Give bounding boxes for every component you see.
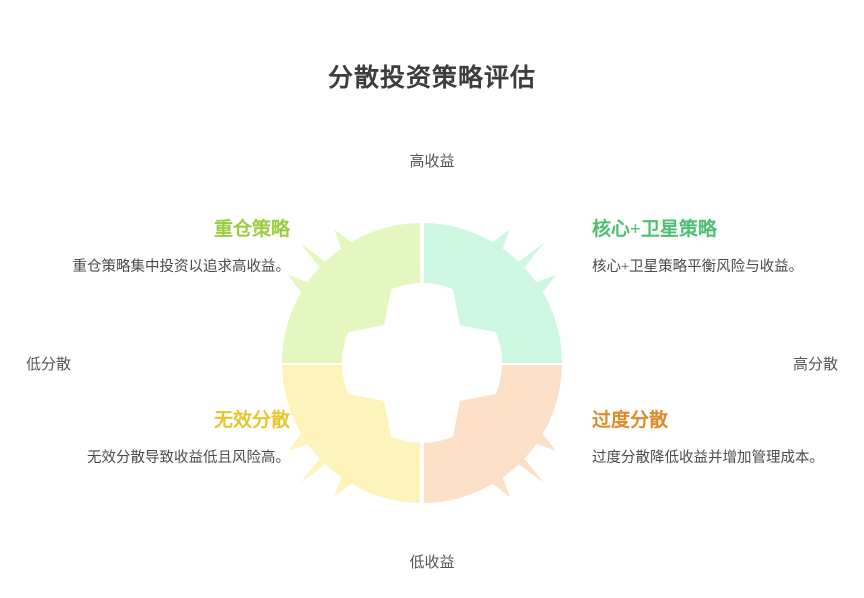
quadrant-bottom-left: 无效分散 无效分散导致收益低且风险高。 bbox=[18, 410, 290, 470]
segment-bottom-right[interactable] bbox=[424, 365, 562, 503]
segment-top-left[interactable] bbox=[282, 223, 420, 363]
quadrant-top-left: 重仓策略 重仓策略集中投资以追求高收益。 bbox=[18, 219, 290, 279]
quadrant-bottom-right: 过度分散 过度分散降低收益并增加管理成本。 bbox=[592, 410, 864, 470]
axis-label-top: 高收益 bbox=[0, 150, 864, 171]
quadrant-description-bottom-right: 过度分散降低收益并增加管理成本。 bbox=[592, 447, 864, 470]
quadrant-description-top-right: 核心+卫星策略平衡风险与收益。 bbox=[592, 256, 864, 279]
axis-label-left: 低分散 bbox=[26, 353, 71, 374]
quadrant-top-right: 核心+卫星策略 核心+卫星策略平衡风险与收益。 bbox=[592, 219, 864, 279]
axis-label-right: 高分散 bbox=[793, 353, 838, 374]
quadrant-heading-bottom-left: 无效分散 bbox=[18, 410, 290, 433]
segment-top-right[interactable] bbox=[424, 223, 562, 363]
donut-diagram bbox=[282, 223, 562, 503]
donut-svg bbox=[282, 223, 562, 503]
axis-label-bottom: 低收益 bbox=[0, 551, 864, 572]
quadrant-heading-top-right: 核心+卫星策略 bbox=[592, 219, 864, 242]
quadrant-description-bottom-left: 无效分散导致收益低且风险高。 bbox=[18, 447, 290, 470]
chart-canvas: 分散投资策略评估 高收益 低收益 低分散 高分散 bbox=[0, 0, 864, 598]
quadrant-heading-top-left: 重仓策略 bbox=[18, 219, 290, 242]
quadrant-description-top-left: 重仓策略集中投资以追求高收益。 bbox=[18, 256, 290, 279]
segment-bottom-left[interactable] bbox=[282, 365, 420, 503]
quadrant-heading-bottom-right: 过度分散 bbox=[592, 410, 864, 433]
page-title: 分散投资策略评估 bbox=[0, 58, 864, 94]
